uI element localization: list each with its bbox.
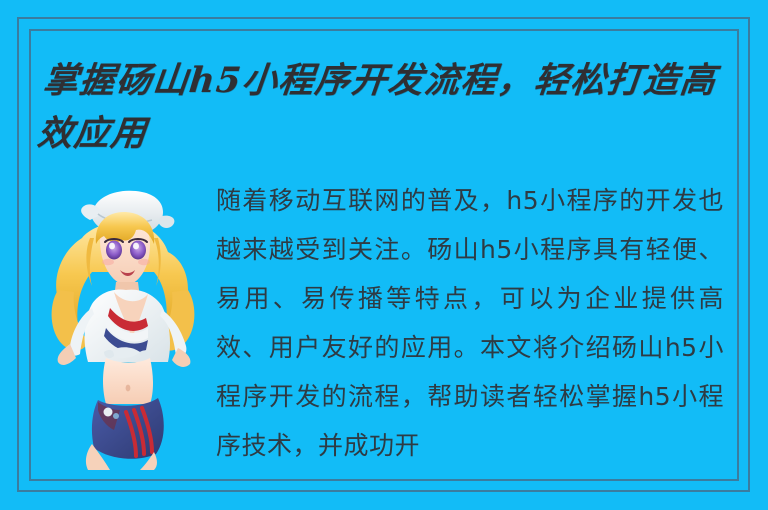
article-body: 随着移动互联网的普及，h5小程序的开发也越来越受到关注。砀山h5小程序具有轻便、… [216, 176, 724, 472]
poster-canvas: 掌握砀山h5小程序开发流程，轻松打造高效应用 [0, 0, 768, 510]
anime-girl-illustration [48, 186, 198, 472]
page-title: 掌握砀山h5小程序开发流程，轻松打造高效应用 [35, 54, 726, 160]
